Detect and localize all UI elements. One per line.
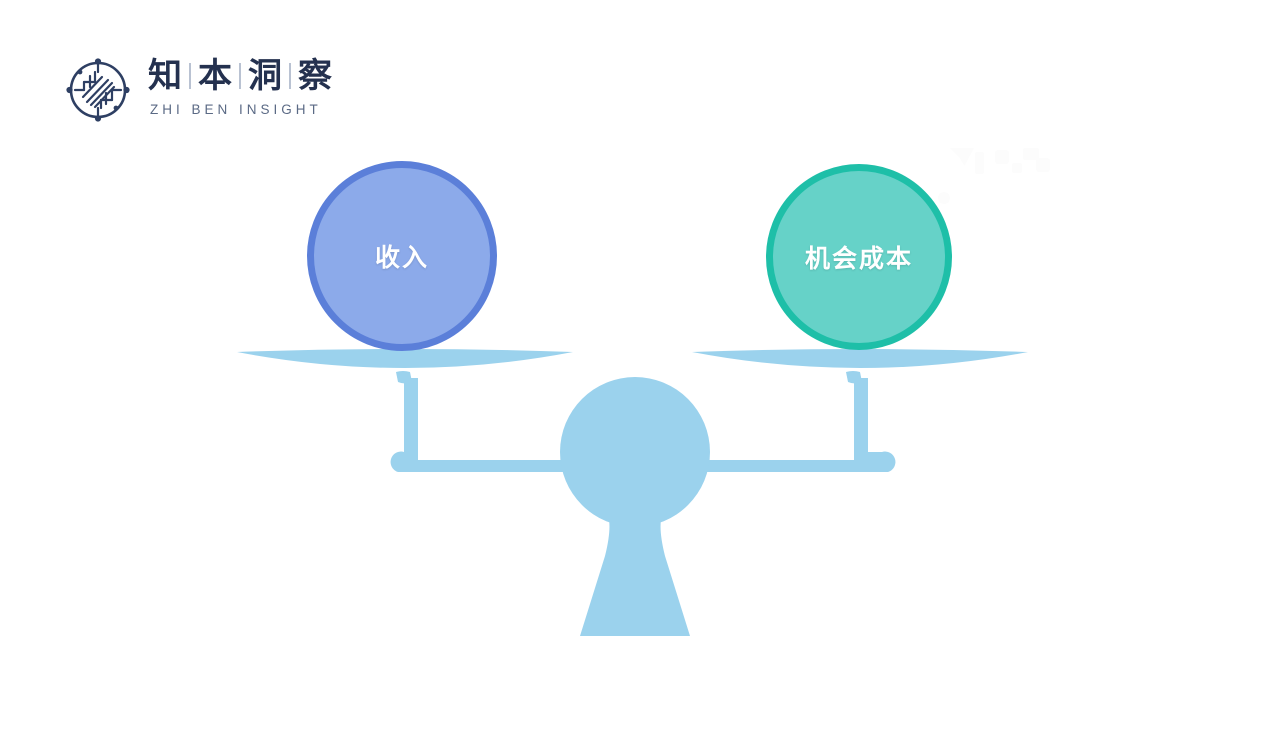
weight-revenue-label: 收入 [375,238,429,274]
slide-canvas: 知 本 洞 察 ZHI BEN INSIGHT [0,0,1267,752]
scale-left-arm [404,378,418,460]
scale-pan-right [692,349,1028,368]
scale-right-arm [854,378,868,460]
weight-opportunity-cost-label: 机会成本 [805,239,913,275]
scale-left-elbow [391,452,418,472]
scale-pan-left [237,349,573,368]
balance-scale-graphic [0,0,1267,752]
scale-base-column [580,515,690,636]
weight-revenue[interactable]: 收入 [307,161,497,351]
scale-pan-right-stem [846,371,862,384]
scale-pivot-circle [560,377,710,527]
weight-opportunity-cost[interactable]: 机会成本 [766,164,952,350]
scale-pan-left-stem [396,371,412,384]
